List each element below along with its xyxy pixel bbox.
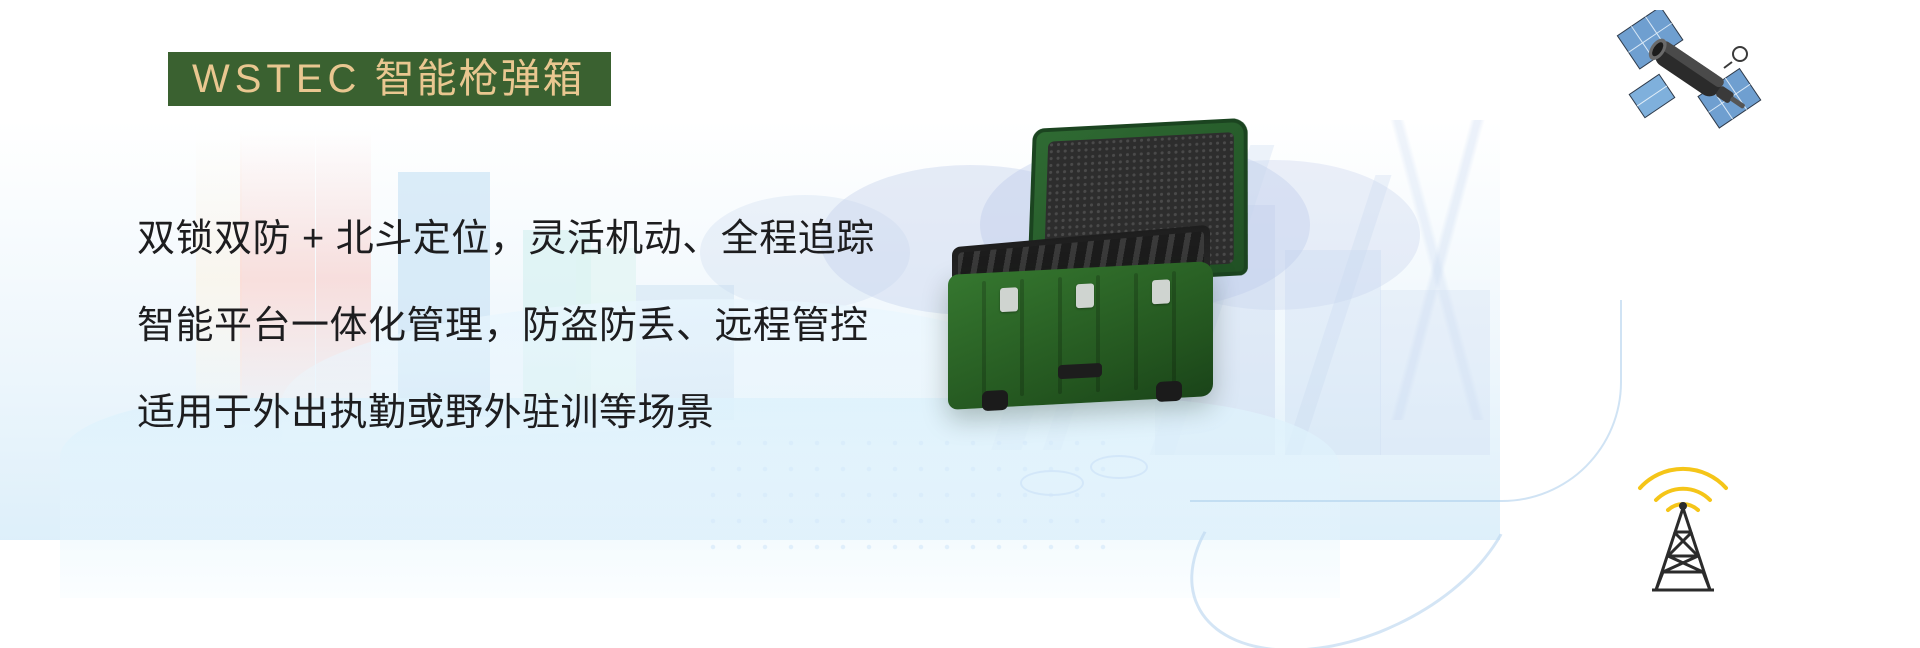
case-latch <box>1152 279 1170 304</box>
tech-line-pattern <box>1230 120 1650 420</box>
diagonal-streak <box>1285 175 1392 455</box>
case-rib <box>1172 271 1176 388</box>
page-title: WSTEC 智能枪弹箱 <box>192 59 585 99</box>
feature-line-1: 双锁双防 + 北斗定位，灵活机动、全程追踪 <box>137 196 997 283</box>
product-banner: WSTEC 智能枪弹箱 双锁双防 + 北斗定位，灵活机动、全程追踪 智能平台一体… <box>0 0 1920 648</box>
feature-list: 双锁双防 + 北斗定位，灵活机动、全程追踪 智能平台一体化管理，防盗防丢、远程管… <box>137 196 997 457</box>
title-badge: WSTEC 智能枪弹箱 <box>168 52 611 106</box>
case-body <box>948 261 1213 410</box>
case-wheel <box>1156 381 1182 402</box>
case-rib <box>1134 273 1138 390</box>
case-handle <box>1058 363 1102 379</box>
brand-name: WSTEC <box>192 57 361 101</box>
case-rib <box>982 281 986 398</box>
product-photo <box>930 118 1260 488</box>
case-rib <box>1020 279 1024 396</box>
skyline-building <box>1285 250 1381 455</box>
title-spacer <box>361 57 374 101</box>
case-wheel <box>982 390 1008 411</box>
signal-tower-icon <box>1608 438 1758 598</box>
skyline-building <box>1380 290 1490 455</box>
product-name: 智能枪弹箱 <box>375 57 585 101</box>
case-latch <box>1000 287 1018 312</box>
case-latch <box>1076 283 1094 308</box>
feature-line-3: 适用于外出执勤或野外驻训等场景 <box>137 370 997 457</box>
feature-line-2: 智能平台一体化管理，防盗防丢、远程管控 <box>137 283 997 370</box>
satellite-icon <box>1612 10 1772 130</box>
